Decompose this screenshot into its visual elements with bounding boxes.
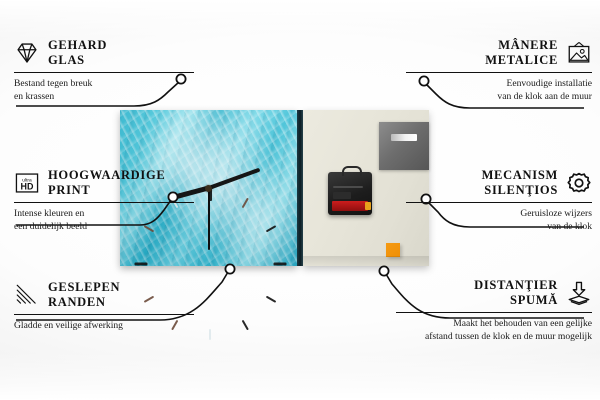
callout-title-line2: RANDEN: [48, 295, 120, 310]
callout-gehard-glas: GEHARD GLAS Bestand tegen breuk en krass…: [14, 38, 194, 104]
callout-title-line1: GESLEPEN: [48, 280, 120, 295]
callout-title-line1: MÂNERE: [485, 38, 558, 53]
callout-rule: [14, 202, 194, 204]
hanger-slot: [391, 134, 417, 141]
battery: [332, 201, 368, 211]
foam-spacer: [386, 243, 400, 257]
clock-minute-hand: [208, 168, 260, 190]
clock-tick: [265, 296, 276, 303]
movement-hook: [342, 166, 362, 176]
callout-title-line1: HOOGWAARDIGE: [48, 168, 165, 183]
clock-movement-box: [328, 172, 372, 215]
infographic-canvas: GEHARD GLAS Bestand tegen breuk en krass…: [0, 0, 600, 400]
ultra-hd-icon: ultra HD: [14, 170, 40, 196]
callout-manere-metalice: MÂNERE METALICE Eenvoudige installatie v…: [406, 38, 592, 104]
callout-rule: [406, 72, 592, 74]
spacer-layers-arrow-icon: [566, 280, 592, 306]
callout-desc-line2: een duidelijk beeld: [14, 221, 194, 234]
clock-tick: [241, 320, 248, 331]
callout-rule: [406, 202, 592, 204]
svg-text:HD: HD: [21, 181, 34, 191]
callout-desc-line2: en krassen: [14, 91, 194, 104]
callout-title-line1: DISTANŢIER: [474, 278, 558, 293]
diamond-icon: [14, 40, 40, 66]
clock-tick: [265, 225, 276, 232]
callout-title-line1: GEHARD: [48, 38, 107, 53]
movement-detail: [333, 192, 351, 199]
callout-desc-line1: Maakt het behouden van een gelijke: [396, 318, 592, 331]
callout-rule: [14, 72, 194, 74]
clock-second-hand: [208, 188, 210, 250]
clock-tick: [134, 263, 147, 266]
callout-desc-line2: afstand tussen de klok en de muur mogeli…: [396, 331, 592, 344]
callout-desc-line2: van de klok: [406, 221, 592, 234]
callout-desc-line1: Intense kleuren en: [14, 208, 194, 221]
clock-tick: [273, 263, 286, 266]
battery-plus-terminal: [365, 202, 371, 210]
bevelled-edge-icon: [14, 282, 40, 308]
callout-title-line2: PRINT: [48, 183, 165, 198]
callout-desc-line2: van de klok aan de muur: [406, 91, 592, 104]
callout-rule: [14, 314, 194, 316]
callout-geslepen-randen: GESLEPEN RANDEN Gladde en veilige afwerk…: [14, 280, 194, 333]
callout-desc-line1: Eenvoudige installatie: [406, 78, 592, 91]
callout-title-line2: METALICE: [485, 53, 558, 68]
callout-distantier-spuma: DISTANŢIER SPUMĂ Maakt het behouden van …: [396, 278, 592, 344]
callout-desc-line1: Gladde en veilige afwerking: [14, 320, 194, 333]
callout-hoogwaardige-print: ultra HD HOOGWAARDIGE PRINT Intense kleu…: [14, 168, 194, 234]
clock-tick: [209, 329, 211, 340]
clock-tick: [241, 198, 248, 209]
gear-icon: [566, 170, 592, 196]
callout-title-line2: SPUMĂ: [474, 293, 558, 308]
callout-desc-line1: Geruisloze wijzers: [406, 208, 592, 221]
movement-detail: [333, 186, 363, 188]
clock-center-cap: [205, 185, 212, 192]
wall-hanging-frame-icon: [566, 40, 592, 66]
callout-title-line2: SILENŢIOS: [482, 183, 558, 198]
callout-rule: [396, 312, 592, 314]
callout-title-line2: GLAS: [48, 53, 107, 68]
metal-hanger-plate: [379, 122, 429, 170]
callout-title-line1: MECANISM: [482, 168, 558, 183]
panel-shadow: [303, 256, 429, 268]
callout-mecanism-silentios: MECANISM SILENŢIOS Geruisloze wijzers va…: [406, 168, 592, 234]
callout-desc-line1: Bestand tegen breuk: [14, 78, 194, 91]
